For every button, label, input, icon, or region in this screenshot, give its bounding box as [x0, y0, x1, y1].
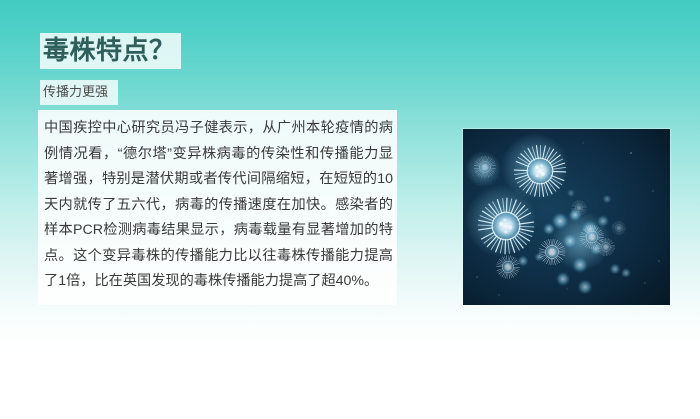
subtitle-container: 传播力更强: [40, 80, 118, 105]
slide-canvas: 毒株特点？ 传播力更强 中国疾控中心研究员冯子健表示，从广州本轮疫情的病例情况看…: [0, 0, 700, 419]
subtitle: 传播力更强: [40, 80, 118, 105]
virus-image: [463, 129, 670, 305]
body-text-block: 中国疾控中心研究员冯子健表示，从广州本轮疫情的病例情况看，“德尔塔”变异株病毒的…: [38, 110, 397, 305]
virus-particles-illustration: [463, 129, 670, 305]
page-title: 毒株特点？: [40, 33, 181, 69]
body-paragraph: 中国疾控中心研究员冯子健表示，从广州本轮疫情的病例情况看，“德尔塔”变异株病毒的…: [38, 116, 397, 295]
page-title-container: 毒株特点？: [40, 33, 181, 69]
